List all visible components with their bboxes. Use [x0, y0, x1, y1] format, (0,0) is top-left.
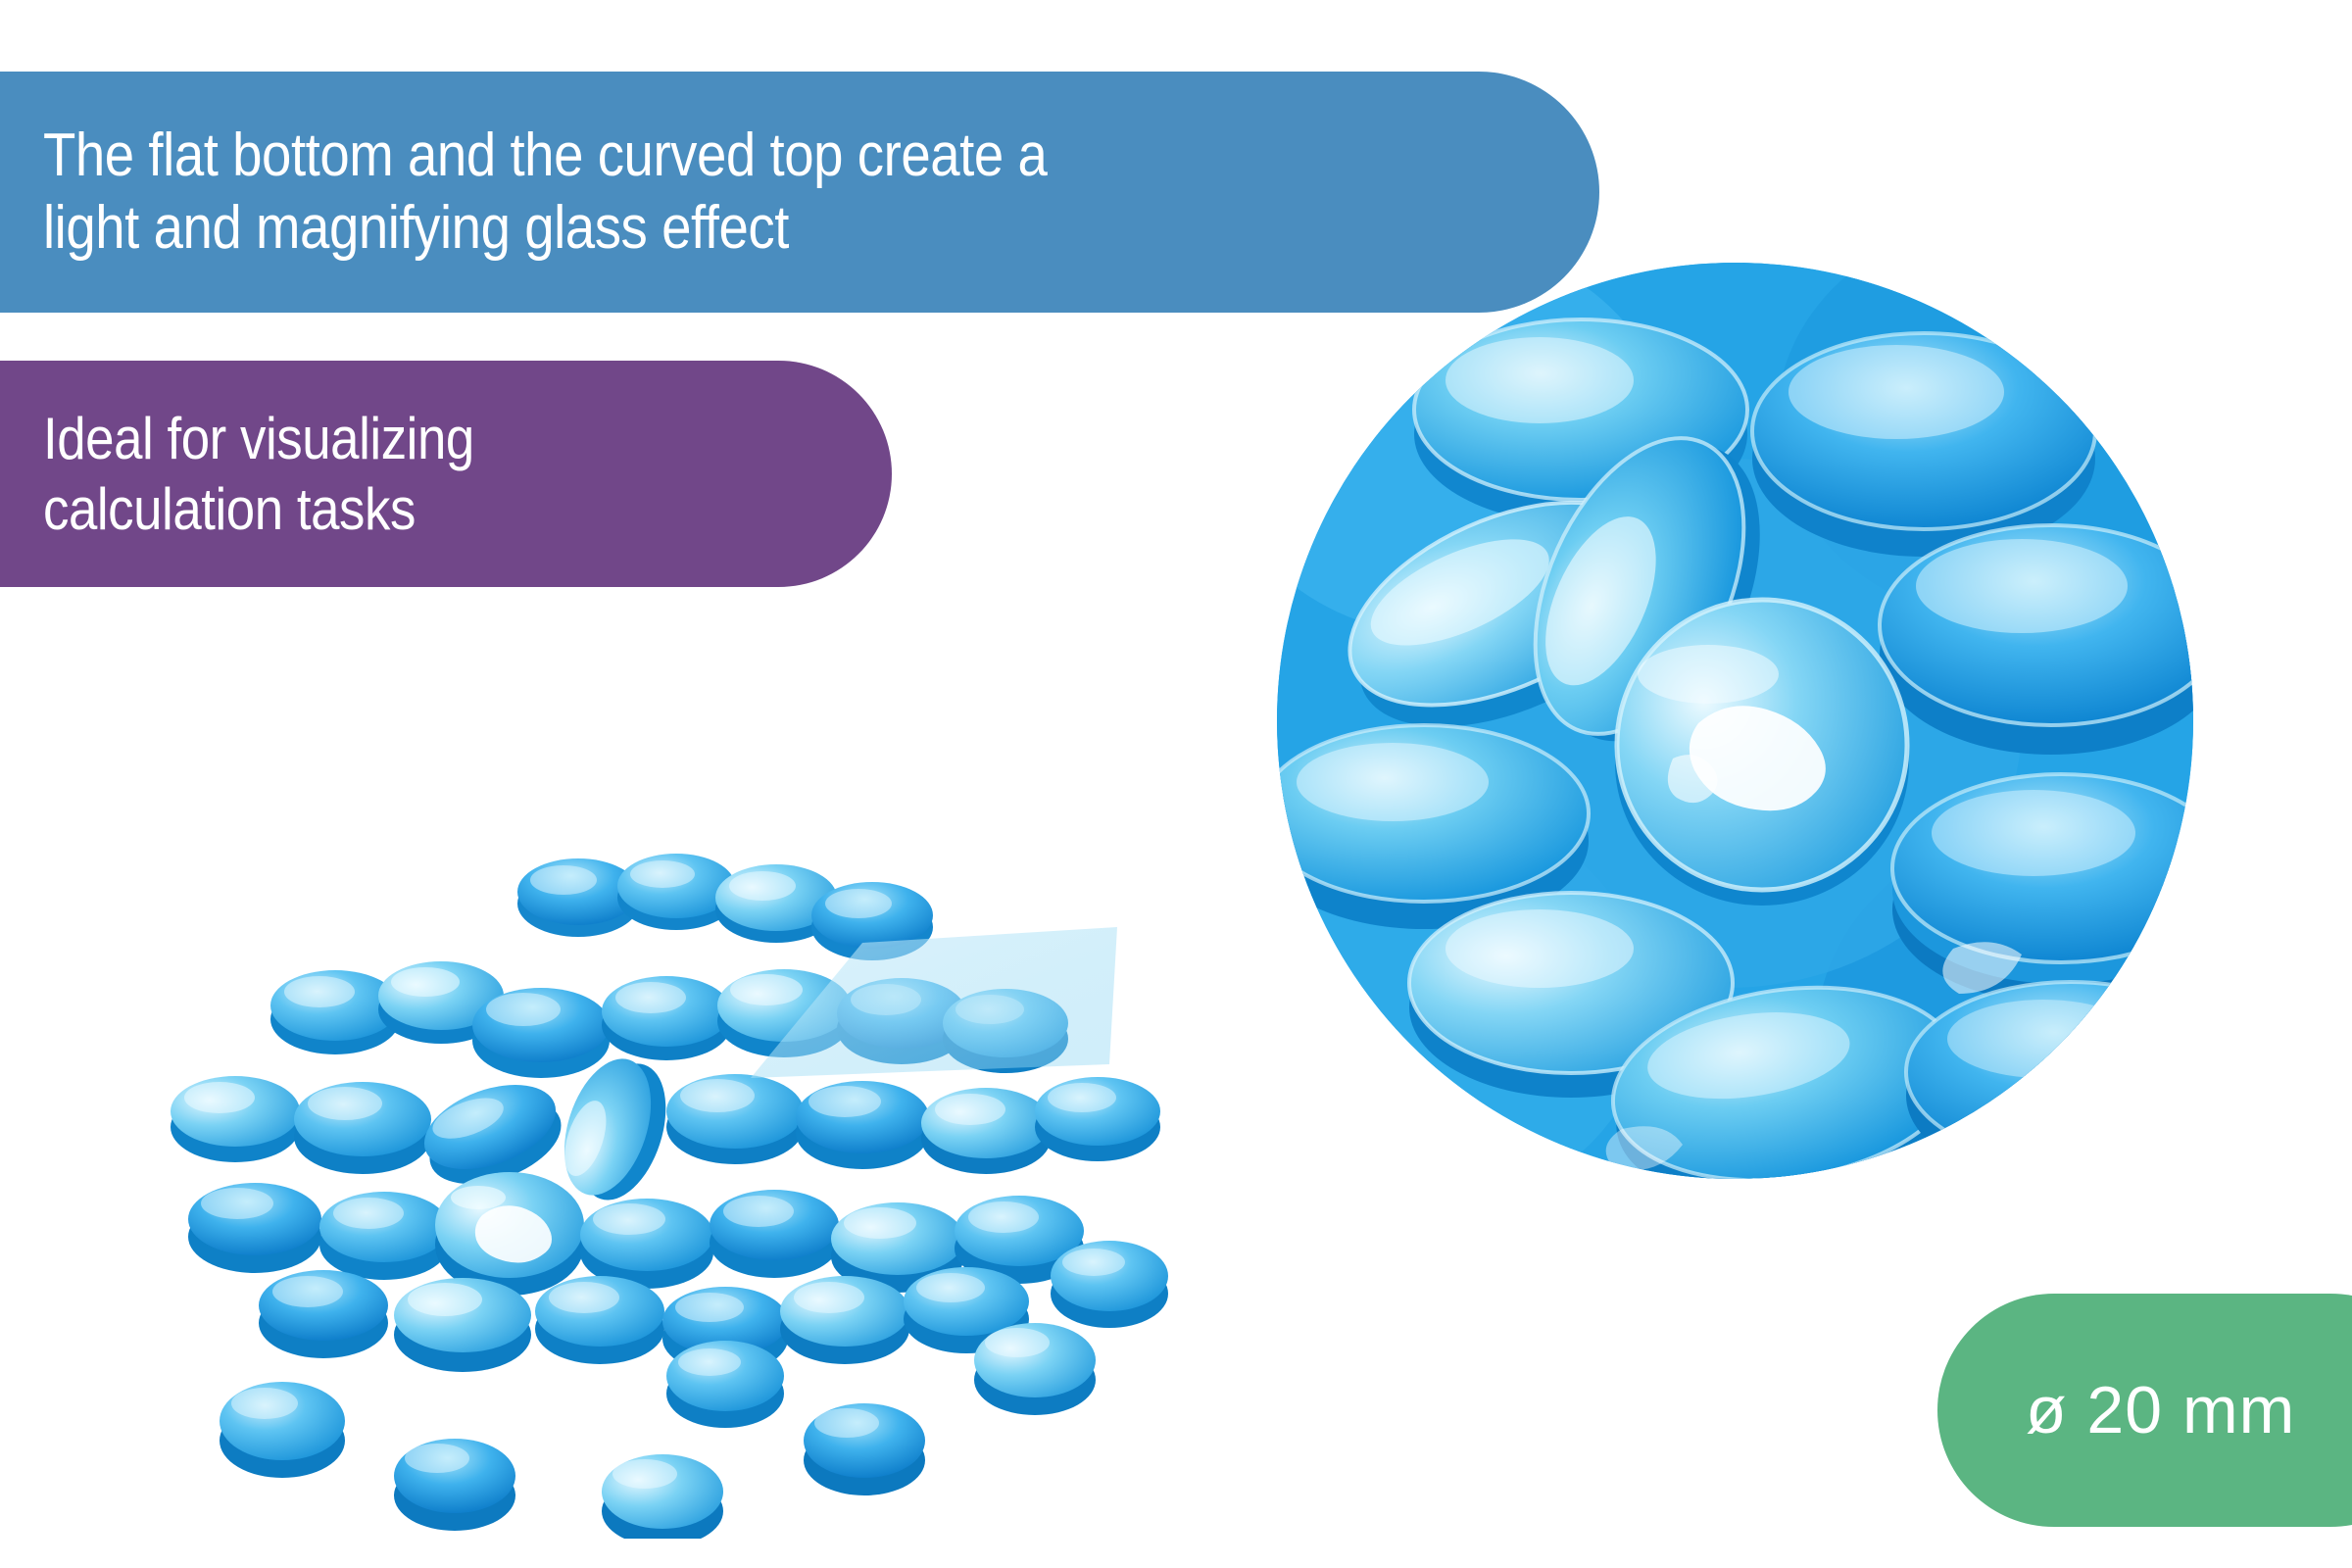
poster-canvas: The flat bottom and the curved top creat…	[0, 0, 2352, 1568]
product-pile-artwork	[118, 833, 1235, 1539]
usecase-banner-line-1: Ideal for visualizing	[43, 404, 790, 474]
diameter-badge-label: ø 20 mm	[1937, 1369, 2295, 1451]
product-pile-photo	[118, 833, 1235, 1539]
diameter-badge: ø 20 mm	[1937, 1294, 2352, 1527]
feature-banner-line-1: The flat bottom and the curved top creat…	[43, 120, 1412, 192]
macro-detail-photo	[1277, 263, 2193, 1179]
macro-detail-artwork	[1277, 263, 2193, 1179]
feature-banner-line-2: light and magnifying glass effect	[43, 192, 1412, 265]
usecase-banner: Ideal for visualizing calculation tasks	[0, 361, 892, 587]
feature-banner: The flat bottom and the curved top creat…	[0, 72, 1599, 313]
usecase-banner-line-2: calculation tasks	[43, 474, 790, 545]
